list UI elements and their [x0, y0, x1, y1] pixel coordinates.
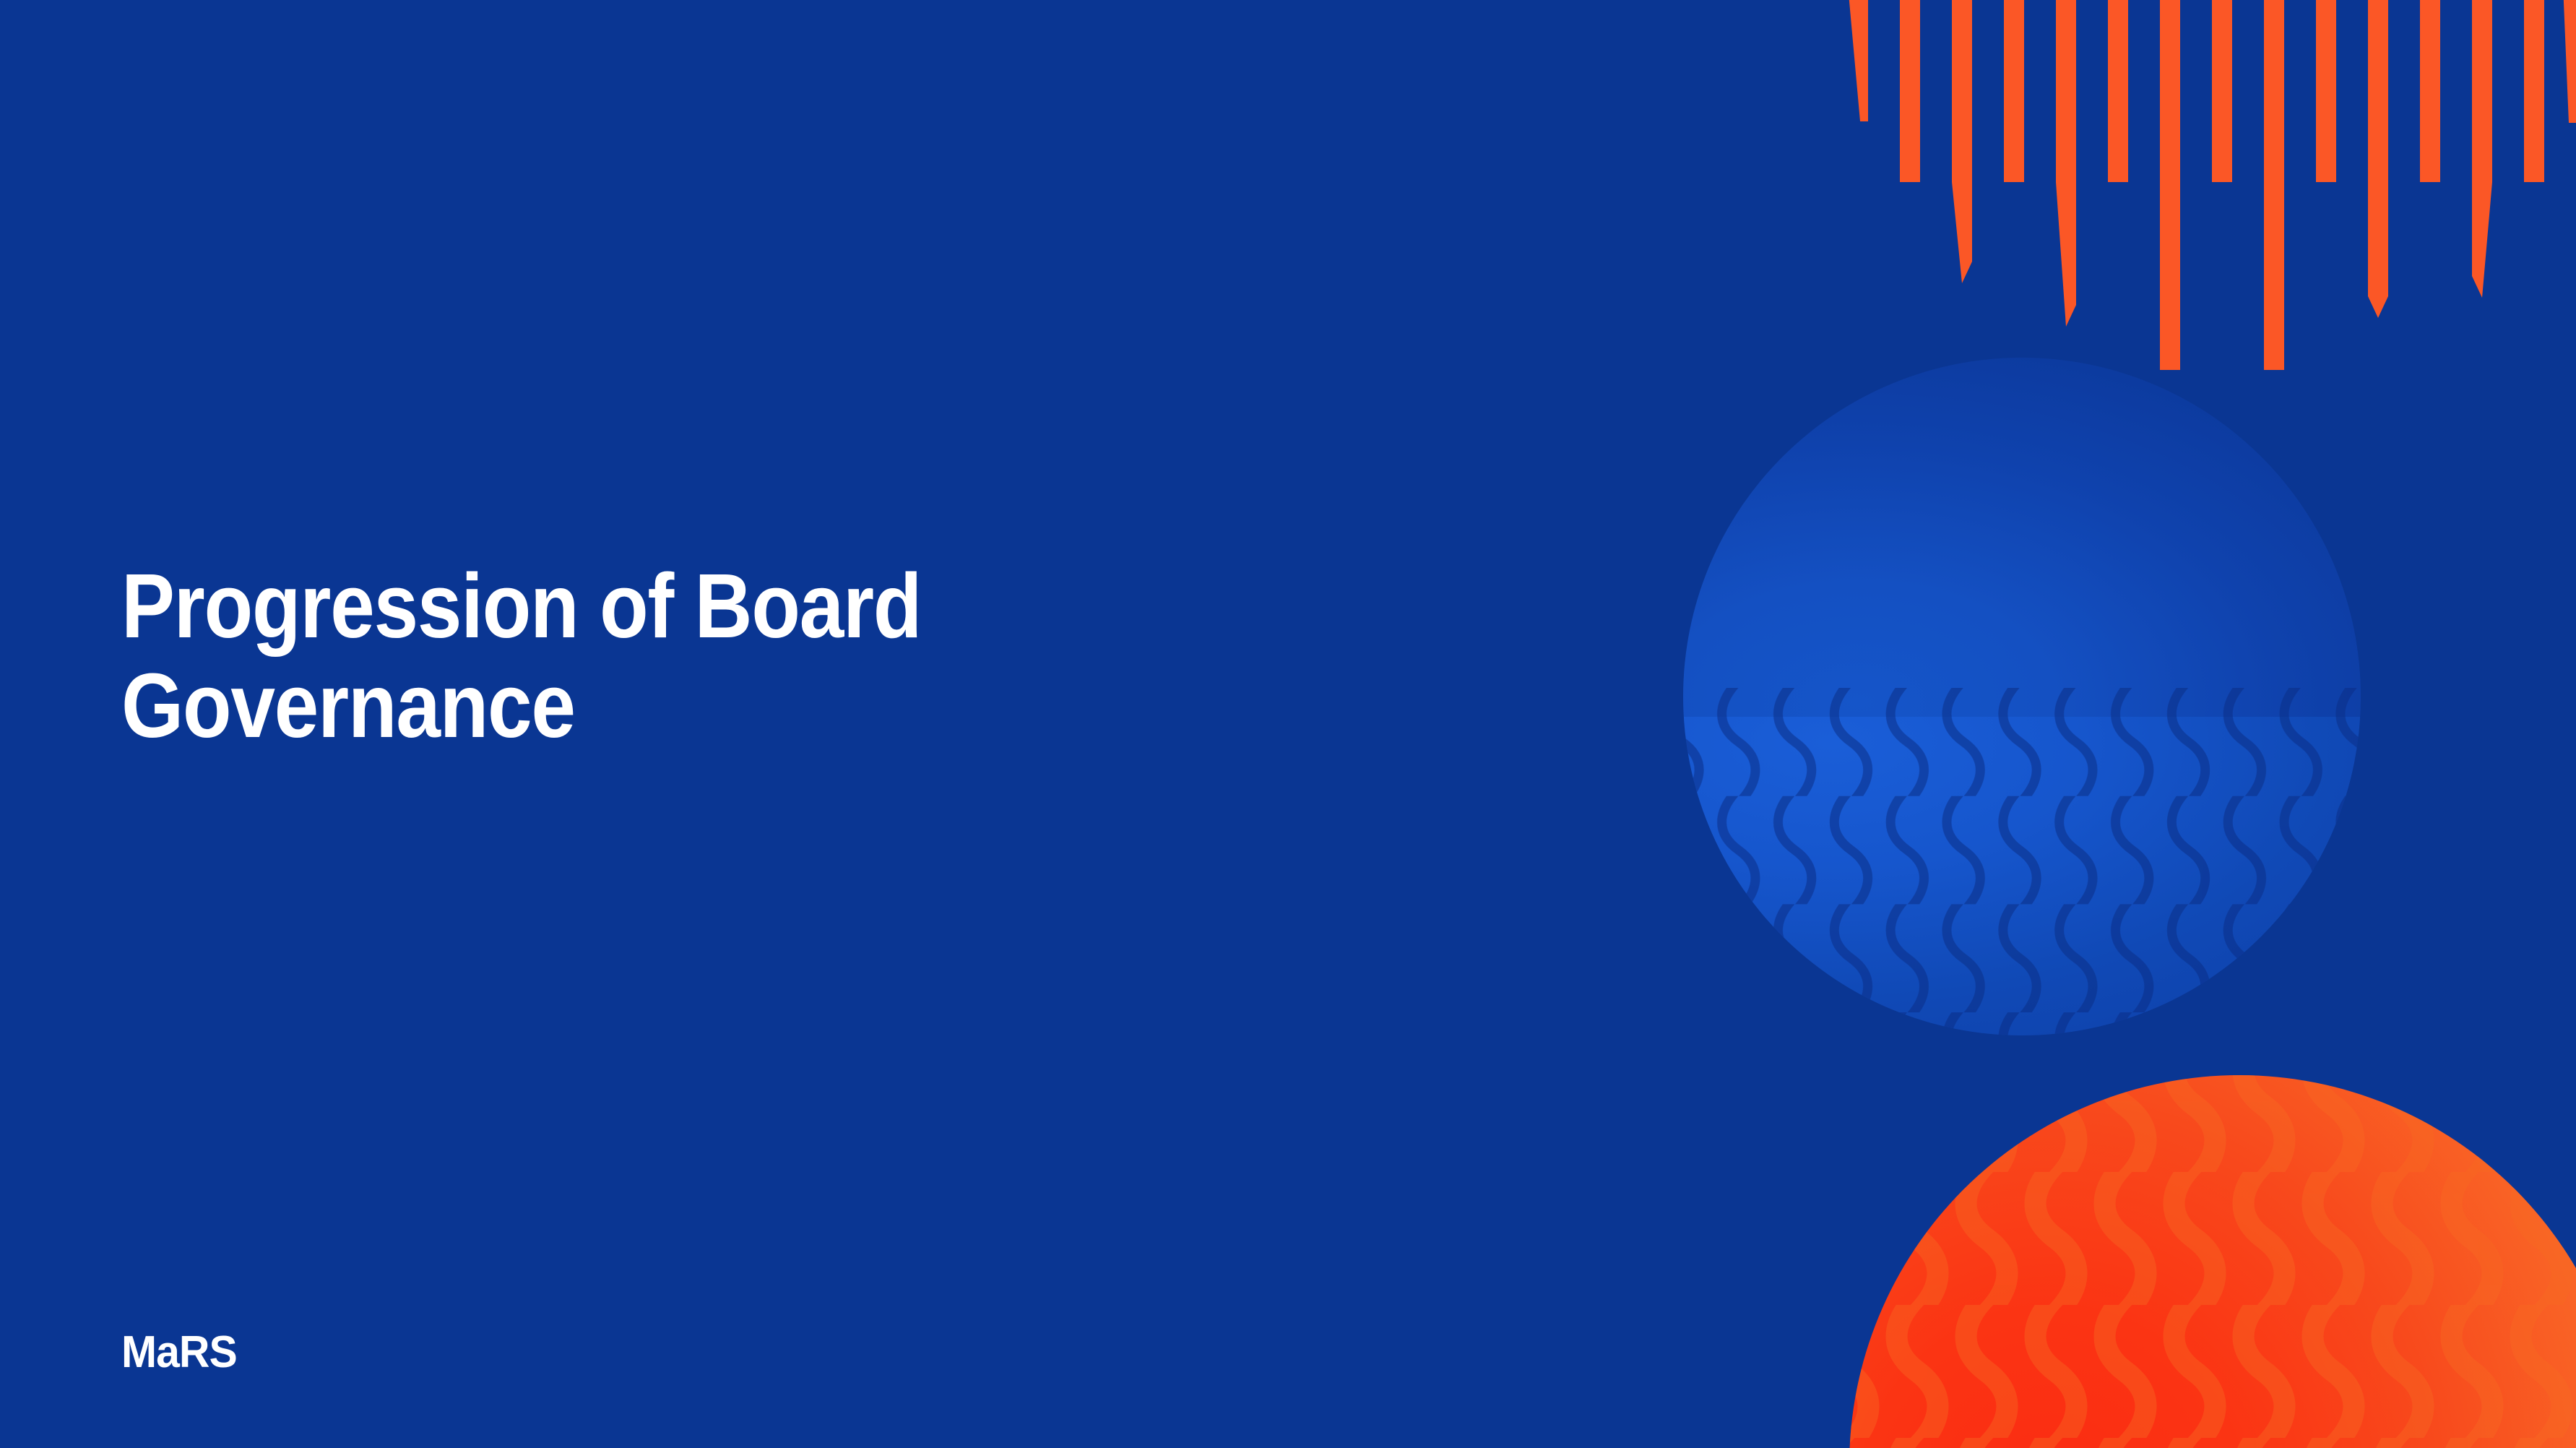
stripe: [2160, 0, 2180, 182]
blue-sphere-upper-gradient: [1683, 358, 2361, 717]
stripe-group: [1848, 0, 2576, 370]
stripe: [2368, 0, 2388, 182]
stripe: [2316, 0, 2336, 182]
blue-gradient-sphere: [1683, 358, 2361, 1035]
stripe: [2212, 0, 2232, 182]
brand-logo-mars: MaRS: [121, 1327, 237, 1378]
presentation-slide: Progression of Board Governance MaRS: [0, 0, 2576, 1448]
stripe-taper-left: [1848, 0, 1868, 121]
page-title: Progression of Board Governance: [121, 556, 1393, 755]
wave-pattern-blue: [1683, 688, 2361, 1035]
stripe: [2524, 0, 2544, 182]
stripe-point: [2368, 182, 2388, 318]
stripe: [2056, 0, 2076, 182]
wave-pattern-orange: [1849, 1075, 2576, 1448]
stripe: [2420, 0, 2440, 182]
stripe: [2108, 0, 2128, 182]
stripe: [2264, 0, 2284, 182]
stripe: [2264, 182, 2284, 370]
blue-sphere-lower-pattern: [1683, 717, 2361, 1035]
stripe-taper-right: [2563, 0, 2576, 123]
stripe: [1952, 0, 1972, 182]
stripe-point: [1952, 182, 1972, 283]
stripe: [1900, 0, 1920, 182]
stripe-point: [2056, 182, 2076, 327]
stripe: [2004, 0, 2024, 182]
orange-wavy-sphere: [1849, 1075, 2576, 1448]
stripe-point: [2472, 182, 2492, 298]
stripe: [2472, 0, 2492, 182]
stripe: [2160, 182, 2180, 370]
